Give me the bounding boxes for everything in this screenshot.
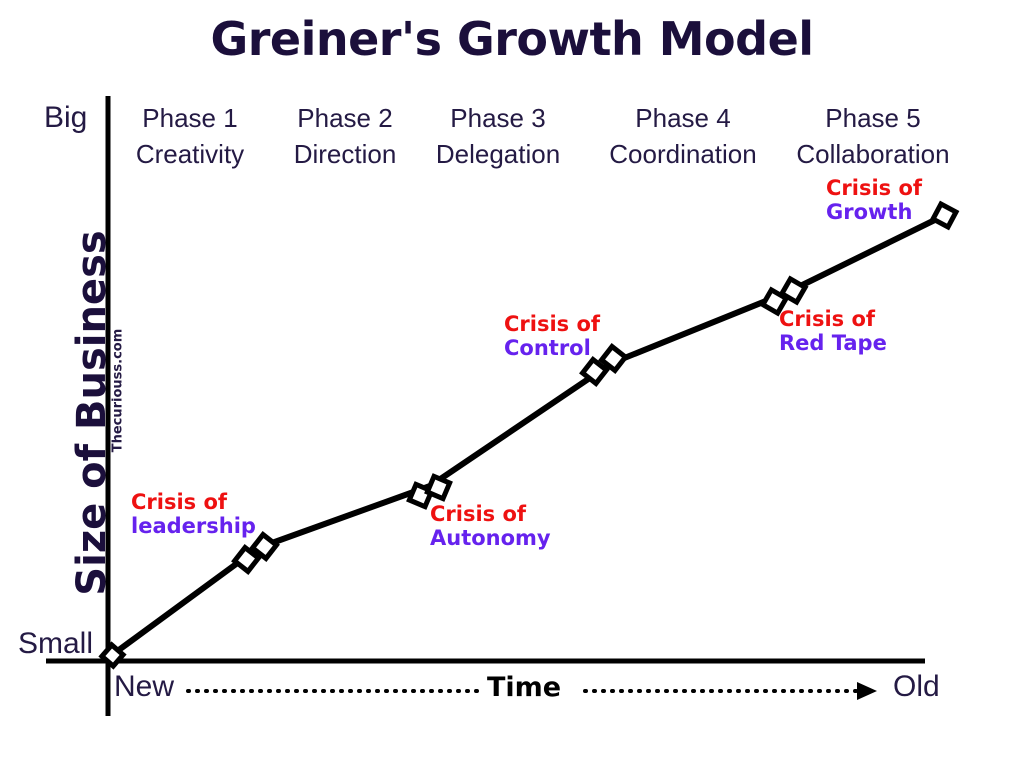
- crisis-label-control: Crisis of Control: [504, 313, 600, 360]
- crisis-prefix-autonomy: Crisis of: [430, 503, 551, 527]
- phase-number-1: Phase 1: [142, 103, 237, 133]
- crisis-name-growth: Growth: [826, 201, 922, 225]
- crisis-marker-leadership: [235, 535, 277, 572]
- phase-label-3: Phase 3 Delegation: [393, 101, 603, 173]
- phase-number-4: Phase 4: [635, 103, 730, 133]
- x-axis-end-label: Old: [893, 670, 940, 704]
- x-axis-start-label: New: [114, 670, 174, 704]
- y-axis-max-label: Big: [44, 101, 87, 135]
- crisis-marker-growth: [933, 204, 956, 227]
- y-axis-min-label: Small: [18, 627, 93, 661]
- crisis-name-autonomy: Autonomy: [430, 527, 551, 551]
- phase-label-4: Phase 4 Coordination: [578, 101, 788, 173]
- crisis-prefix-leadership: Crisis of: [131, 491, 256, 515]
- phase-name-4: Coordination: [578, 137, 788, 173]
- crisis-name-redtape: Red Tape: [779, 332, 887, 356]
- crisis-label-leadership: Crisis of leadership: [131, 491, 256, 538]
- crisis-label-autonomy: Crisis of Autonomy: [430, 503, 551, 550]
- crisis-prefix-control: Crisis of: [504, 313, 600, 337]
- page-title: Greiner's Growth Model: [0, 12, 1024, 66]
- watermark-text: Thecuriouss.com: [111, 311, 126, 471]
- crisis-label-growth: Crisis of Growth: [826, 177, 922, 224]
- phase-number-5: Phase 5: [825, 103, 920, 133]
- y-axis-title: Size of Business: [69, 203, 115, 623]
- crisis-prefix-growth: Crisis of: [826, 177, 922, 201]
- phase-number-3: Phase 3: [450, 103, 545, 133]
- crisis-prefix-redtape: Crisis of: [779, 308, 887, 332]
- phase-name-3: Delegation: [393, 137, 603, 173]
- crisis-name-leadership: leadership: [131, 515, 256, 539]
- crisis-label-redtape: Crisis of Red Tape: [779, 308, 887, 355]
- phase-label-5: Phase 5 Collaboration: [768, 101, 978, 173]
- phase-number-2: Phase 2: [297, 103, 392, 133]
- growth-curve: [112, 215, 945, 655]
- phase-name-5: Collaboration: [768, 137, 978, 173]
- x-axis-title: Time: [487, 672, 561, 703]
- crisis-name-control: Control: [504, 337, 600, 361]
- time-arrowhead-icon: [857, 682, 877, 700]
